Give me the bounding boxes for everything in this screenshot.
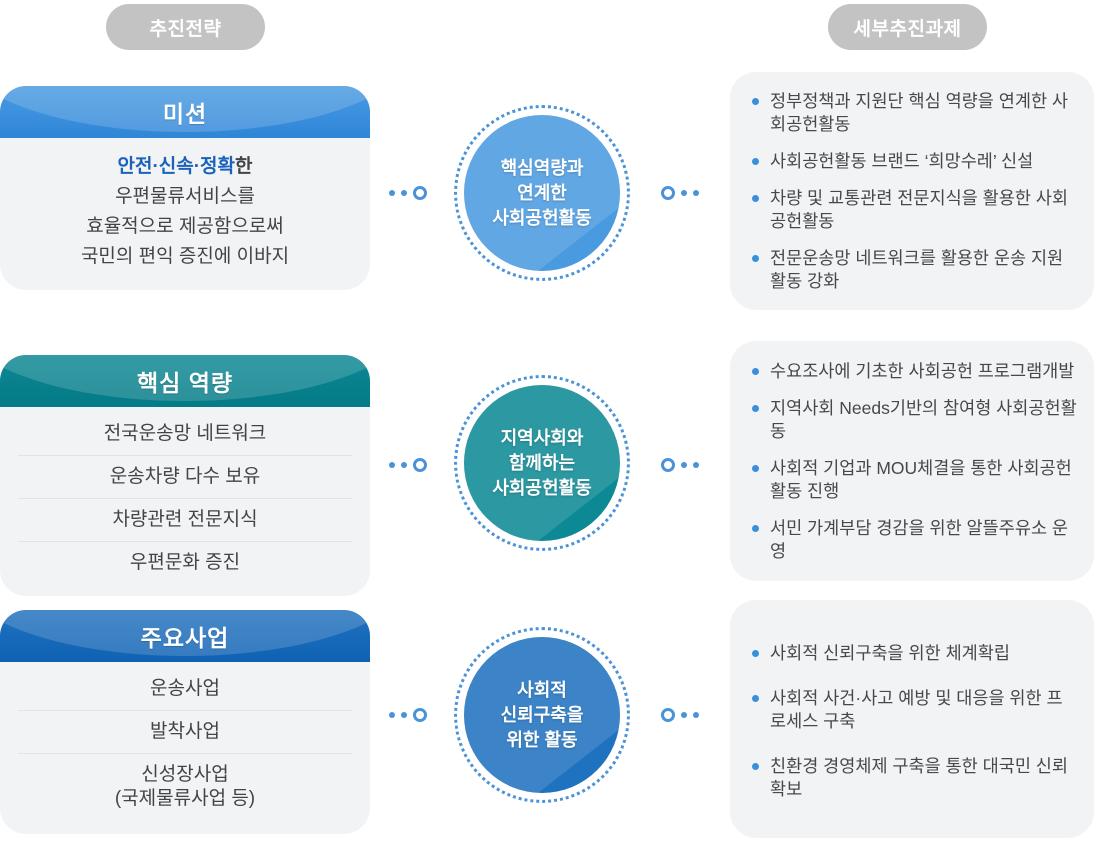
connector-right-row3 [661, 708, 699, 722]
list-item: 신성장사업 (국제물류사업 등) [18, 753, 352, 820]
card-main-business: 주요사업 운송사업 발착사업 신성장사업 (국제물류사업 등) [0, 610, 370, 834]
card-core-capability-body: 전국운송망 네트워크 운송차량 다수 보유 차량관련 전문지식 우편문화 증진 [0, 407, 370, 596]
capability-list: 전국운송망 네트워크 운송차량 다수 보유 차량관련 전문지식 우편문화 증진 [18, 413, 352, 584]
mission-rest: 한 [235, 156, 252, 177]
circle-line: 핵심역량과 [501, 158, 584, 178]
card-main-business-header: 주요사업 [0, 610, 370, 662]
column-header-tasks: 세부추진과제 [828, 4, 987, 50]
circle-line: 연계한 [517, 183, 567, 203]
tasks-card-row3: 사회적 신뢰구축을 위한 체계확립 사회적 사건·사고 예방 및 대응을 위한 … [730, 600, 1094, 838]
connector-dot [681, 462, 687, 468]
task-item: 정부정책과 지원단 핵심 역량을 연계한 사회공헌활동 [748, 90, 1078, 136]
task-item: 전문운송망 네트워크를 활용한 운송 지원활동 강화 [748, 247, 1078, 293]
mission-highlight: 안전·신속·정확 [117, 156, 235, 177]
card-mission: 미션 안전·신속·정확한 우편물류서비스를 효율적으로 제공함으로써 국민의 편… [0, 86, 370, 290]
task-item: 친환경 경영체제 구축을 통한 대국민 신뢰확보 [748, 755, 1078, 801]
connector-dot [681, 190, 687, 196]
list-item: 발착사업 [18, 710, 352, 753]
task-item: 지역사회 Needs기반의 참여형 사회공헌활동 [748, 397, 1078, 443]
circle-line: 신뢰구축을 [501, 705, 584, 725]
column-header-tasks-label: 세부추진과제 [854, 14, 962, 41]
connector-dot [693, 190, 699, 196]
circle-line: 사회공헌활동 [492, 208, 591, 228]
connector-ring [413, 708, 427, 722]
column-header-strategy: 추진전략 [106, 4, 265, 50]
card-main-business-body: 운송사업 발착사업 신성장사업 (국제물류사업 등) [0, 662, 370, 834]
circle-label: 핵심역량과 연계한 사회공헌활동 [486, 156, 597, 231]
connector-dot [401, 712, 407, 718]
connector-left-row1 [389, 186, 427, 200]
card-mission-body: 안전·신속·정확한 우편물류서비스를 효율적으로 제공함으로써 국민의 편익 증… [0, 138, 370, 290]
mission-line: 안전·신속·정확한 [18, 152, 352, 182]
connector-left-row3 [389, 708, 427, 722]
card-main-business-title: 주요사업 [141, 619, 230, 653]
list-item-main: 신성장사업 [141, 764, 228, 785]
task-item: 사회적 기업과 MOU체결을 통한 사회공헌 활동 진행 [748, 457, 1078, 503]
connector-dot [389, 712, 395, 718]
card-mission-header: 미션 [0, 86, 370, 138]
circle-line: 사회공헌활동 [492, 478, 591, 498]
list-item: 우편문화 증진 [18, 541, 352, 584]
connector-right-row2 [661, 458, 699, 472]
task-item: 서민 가계부담 경감을 위한 알뜰주유소 운영 [748, 517, 1078, 563]
circle-line: 위한 활동 [506, 730, 577, 750]
strategy-diagram: 추진전략 세부추진과제 미션 안전·신속·정확한 우편물류서비스를 효율적으로 … [0, 0, 1094, 841]
mission-line: 국민의 편익 증진에 이바지 [18, 242, 352, 272]
circle-line: 사회적 [517, 680, 567, 700]
tasks-list-row1: 정부정책과 지원단 핵심 역량을 연계한 사회공헌활동 사회공헌활동 브랜드 ‘… [730, 90, 1094, 293]
circle-label: 사회적 신뢰구축을 위한 활동 [495, 678, 590, 753]
mission-line: 우편물류서비스를 [18, 182, 352, 212]
list-item: 운송차량 다수 보유 [18, 455, 352, 498]
tasks-list-row3: 사회적 신뢰구축을 위한 체계확립 사회적 사건·사고 예방 및 대응을 위한 … [730, 638, 1094, 801]
task-item: 사회적 사건·사고 예방 및 대응을 위한 프로세스 구축 [748, 687, 1078, 733]
task-item: 수요조사에 기초한 사회공헌 프로그램개발 [748, 360, 1078, 383]
list-item-sub: (국제물류사업 등) [22, 787, 348, 811]
task-item: 사회공헌활동 브랜드 ‘희망수레’ 신설 [748, 150, 1078, 173]
connector-ring [661, 186, 675, 200]
circle-line: 지역사회와 [501, 428, 584, 448]
circle-label: 지역사회와 함께하는 사회공헌활동 [486, 426, 597, 501]
connector-dot [693, 462, 699, 468]
connector-dot [389, 462, 395, 468]
connector-ring [413, 186, 427, 200]
circle-core-capability: 핵심역량과 연계한 사회공헌활동 [454, 105, 630, 281]
connector-dot [681, 712, 687, 718]
business-list: 운송사업 발착사업 신성장사업 (국제물류사업 등) [18, 668, 352, 820]
connector-right-row1 [661, 186, 699, 200]
connector-ring [413, 458, 427, 472]
connector-ring [661, 708, 675, 722]
circle-community: 지역사회와 함께하는 사회공헌활동 [454, 375, 630, 551]
task-item: 차량 및 교통관련 전문지식을 활용한 사회공헌활동 [748, 187, 1078, 233]
mission-line: 효율적으로 제공함으로써 [18, 212, 352, 242]
card-core-capability-title: 핵심 역량 [137, 364, 233, 398]
connector-dot [401, 190, 407, 196]
connector-left-row2 [389, 458, 427, 472]
list-item: 운송사업 [18, 668, 352, 710]
task-item: 사회적 신뢰구축을 위한 체계확립 [748, 642, 1078, 665]
tasks-card-row2: 수요조사에 기초한 사회공헌 프로그램개발 지역사회 Needs기반의 참여형 … [730, 341, 1094, 581]
tasks-list-row2: 수요조사에 기초한 사회공헌 프로그램개발 지역사회 Needs기반의 참여형 … [730, 360, 1094, 563]
connector-dot [401, 462, 407, 468]
card-mission-title: 미션 [163, 95, 207, 129]
card-core-capability: 핵심 역량 전국운송망 네트워크 운송차량 다수 보유 차량관련 전문지식 우편… [0, 355, 370, 596]
card-core-capability-header: 핵심 역량 [0, 355, 370, 407]
connector-dot [693, 712, 699, 718]
list-item: 차량관련 전문지식 [18, 498, 352, 541]
tasks-card-row1: 정부정책과 지원단 핵심 역량을 연계한 사회공헌활동 사회공헌활동 브랜드 ‘… [730, 72, 1094, 310]
connector-ring [661, 458, 675, 472]
circle-social-trust: 사회적 신뢰구축을 위한 활동 [454, 627, 630, 803]
list-item: 전국운송망 네트워크 [18, 413, 352, 455]
connector-dot [389, 190, 395, 196]
circle-line: 함께하는 [509, 453, 575, 473]
column-header-strategy-label: 추진전략 [150, 14, 222, 41]
